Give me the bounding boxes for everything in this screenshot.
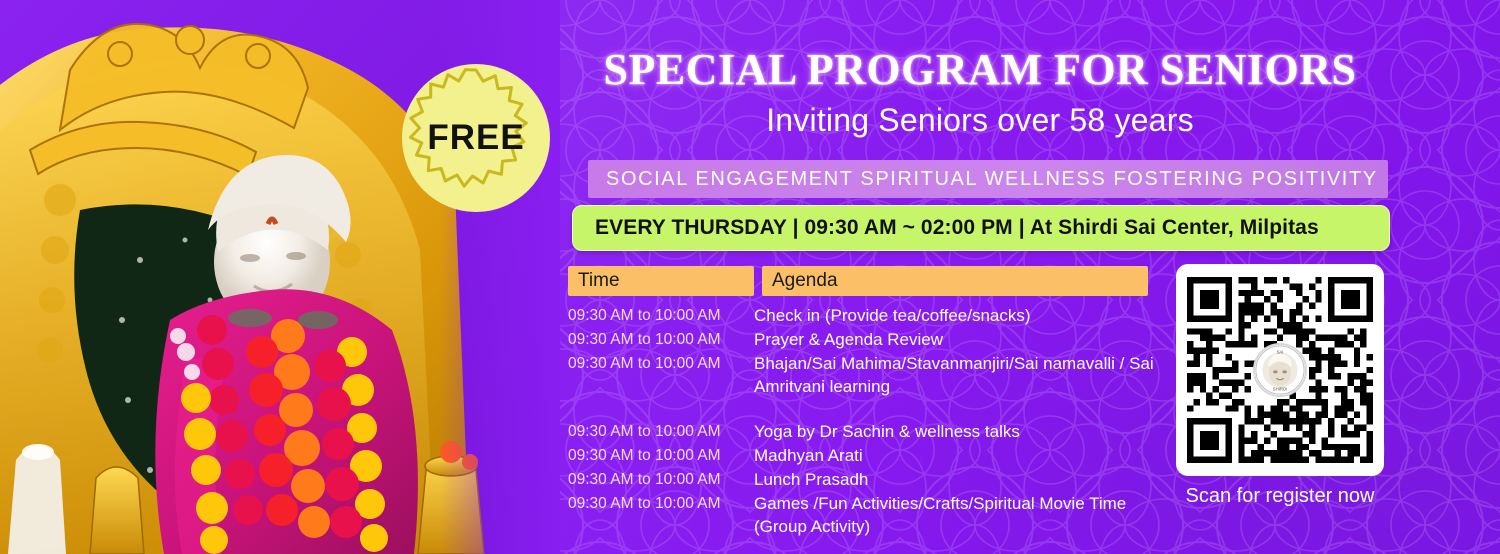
table-row: 09:30 AM to 10:00 AMMadhyan Arati [568, 444, 1168, 467]
cell-agenda: Prayer & Agenda Review [754, 328, 1154, 351]
svg-text:SAI: SAI [1277, 349, 1284, 354]
page-title: SPECIAL PROGRAM FOR SENIORS [560, 44, 1400, 95]
cell-agenda: Check in (Provide tea/coffee/snacks) [754, 304, 1154, 327]
cell-agenda: Yoga by Dr Sachin & wellness talks [754, 420, 1154, 443]
table-row: 09:30 AM to 10:00 AMCheck in (Provide te… [568, 304, 1168, 327]
svg-text:SHIRDI: SHIRDI [1273, 386, 1287, 391]
table-row: 09:30 AM to 10:00 AMGames /Fun Activitie… [568, 492, 1168, 538]
qr-caption: Scan for register now [1160, 485, 1400, 508]
cell-agenda: Madhyan Arati [754, 444, 1154, 467]
tagline-text: SOCIAL ENGAGEMENT SPIRITUAL WELLNESS FOS… [606, 168, 1378, 191]
cell-agenda: Lunch Prasadh [754, 468, 1154, 491]
table-row: 09:30 AM to 10:00 AMLunch Prasadh [568, 468, 1168, 491]
table-row: 09:30 AM to 10:00 AMBhajan/Sai Mahima/St… [568, 352, 1168, 398]
content-panel: SPECIAL PROGRAM FOR SENIORS Inviting Sen… [560, 0, 1500, 554]
page-subtitle: Inviting Seniors over 58 years [560, 102, 1400, 139]
free-badge-label: FREE [400, 62, 552, 214]
cell-time: 09:30 AM to 10:00 AM [568, 492, 754, 538]
cell-agenda: Bhajan/Sai Mahima/Stavanmanjiri/Sai nama… [754, 352, 1154, 398]
cell-time: 09:30 AM to 10:00 AM [568, 328, 754, 351]
schedule-location-text: EVERY THURSDAY | 09:30 AM ~ 02:00 PM | A… [595, 216, 1319, 240]
cell-time: 09:30 AM to 10:00 AM [568, 304, 754, 327]
cell-time: 09:30 AM to 10:00 AM [568, 468, 754, 491]
cell-time: 09:30 AM to 10:00 AM [568, 420, 754, 443]
column-header-agenda: Agenda [762, 266, 1148, 296]
qr-center-logo: SAI SHIRDI [1253, 343, 1307, 397]
table-row: 09:30 AM to 10:00 AMYoga by Dr Sachin & … [568, 420, 1168, 443]
table-row: 09:30 AM to 10:00 AMPrayer & Agenda Revi… [568, 328, 1168, 351]
qr-code[interactable]: SAI SHIRDI [1176, 264, 1384, 476]
column-header-time: Time [568, 266, 754, 296]
cell-time: 09:30 AM to 10:00 AM [568, 352, 754, 398]
schedule-location-bar: EVERY THURSDAY | 09:30 AM ~ 02:00 PM | A… [572, 205, 1390, 251]
cell-time: 09:30 AM to 10:00 AM [568, 444, 754, 467]
cell-agenda: Games /Fun Activities/Crafts/Spiritual M… [754, 492, 1154, 538]
tagline-band: SOCIAL ENGAGEMENT SPIRITUAL WELLNESS FOS… [588, 160, 1388, 198]
agenda-table-body: 09:30 AM to 10:00 AMCheck in (Provide te… [568, 304, 1168, 539]
free-badge: FREE [400, 62, 552, 214]
event-banner: FREE SPECIAL PROGRAM FOR SENIORS Invitin… [0, 0, 1500, 554]
agenda-table-header: Time Agenda [568, 266, 1148, 296]
